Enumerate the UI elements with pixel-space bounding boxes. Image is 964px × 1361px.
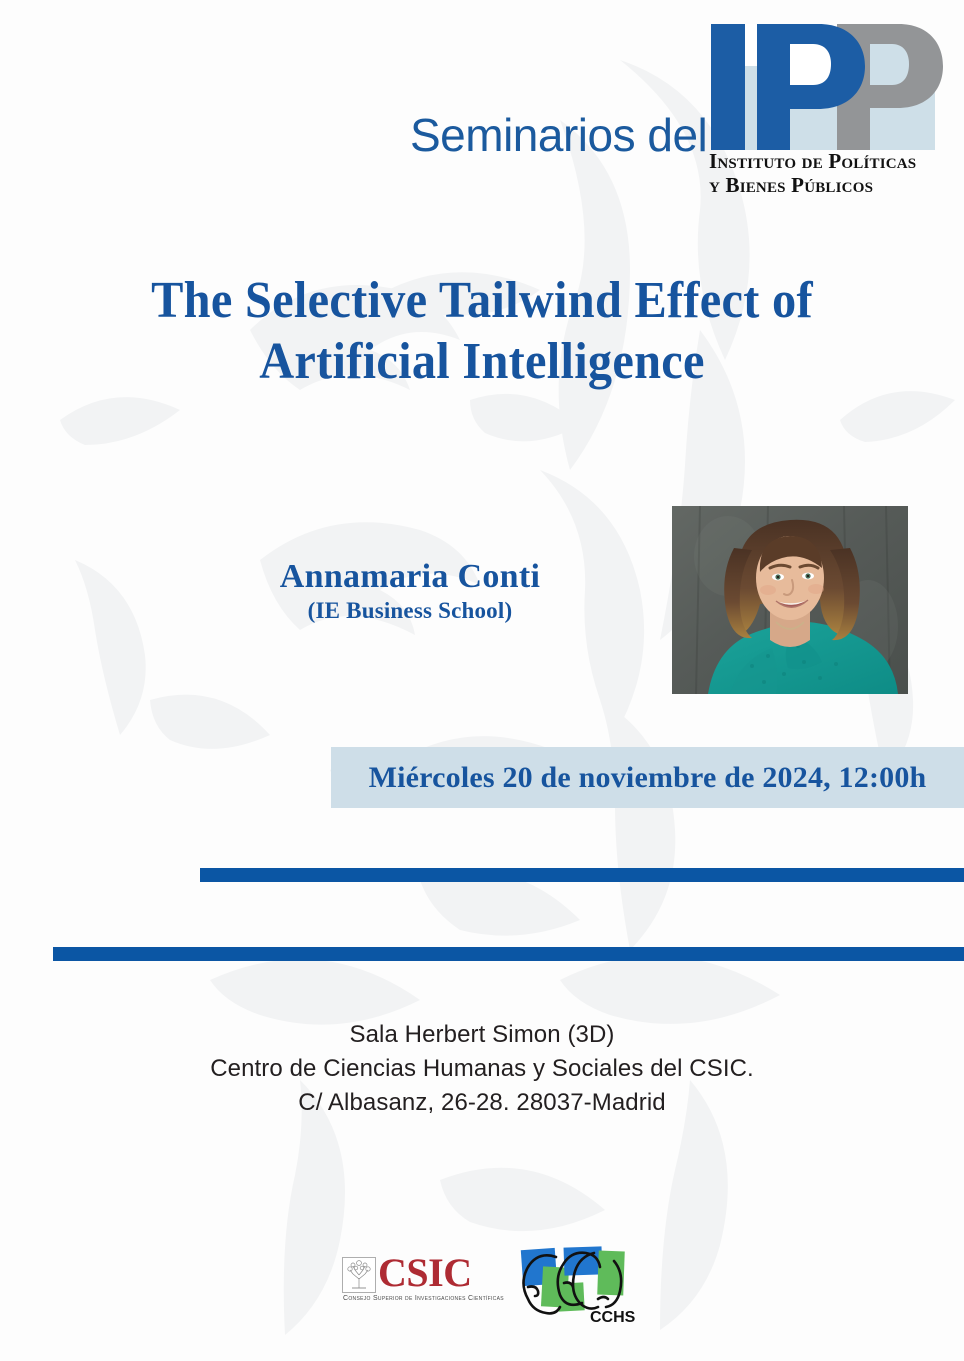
divider-rule-top: [200, 868, 964, 882]
csic-tree-icon: [342, 1257, 376, 1293]
ipp-logo: Instituto de Políticas y Bienes Públicos: [705, 22, 955, 207]
divider-rule-bottom: [53, 947, 964, 961]
ipp-subtitle-line2: y Bienes Públicos: [709, 174, 955, 198]
poster-footer: CSIC Consejo Superior de Investigaciones…: [0, 1243, 964, 1333]
speaker-name: Annamaria Conti: [180, 558, 640, 595]
poster-header: Seminarios del: [0, 0, 964, 225]
cchs-label: CCHS: [590, 1309, 636, 1326]
ipp-logo-subtitle: Instituto de Políticas y Bienes Públicos: [709, 150, 955, 197]
speaker-block: Annamaria Conti (IE Business School): [180, 558, 640, 626]
csic-logo: CSIC Consejo Superior de Investigaciones…: [342, 1255, 492, 1307]
ipp-logo-mark: [705, 22, 945, 150]
seminar-series-label: Seminarios del: [410, 108, 707, 162]
ipp-subtitle-line1: Instituto de Políticas: [709, 149, 916, 173]
venue-address: Sala Herbert Simon (3D) Centro de Cienci…: [0, 1018, 964, 1120]
date-banner: Miércoles 20 de noviembre de 2024, 12:00…: [331, 747, 964, 808]
speaker-photo: [672, 506, 908, 694]
title-line-1: The Selective Tailwind Effect of: [34, 270, 931, 331]
title-line-2: Artificial Intelligence: [34, 331, 931, 392]
speaker-affiliation: (IE Business School): [180, 597, 640, 626]
seminar-title: The Selective Tailwind Effect of Artific…: [34, 270, 931, 393]
csic-tagline: Consejo Superior de Investigaciones Cien…: [343, 1295, 504, 1302]
cchs-logo: CCHS: [512, 1243, 642, 1329]
venue-line-1: Sala Herbert Simon (3D): [0, 1018, 964, 1052]
date-text: Miércoles 20 de noviembre de 2024, 12:00…: [369, 761, 927, 795]
venue-line-3: C/ Albasanz, 26-28. 28037-Madrid: [0, 1086, 964, 1120]
seminar-poster: Seminarios del: [0, 0, 964, 1361]
csic-wordmark: CSIC: [378, 1253, 472, 1293]
venue-line-2: Centro de Ciencias Humanas y Sociales de…: [0, 1052, 964, 1086]
